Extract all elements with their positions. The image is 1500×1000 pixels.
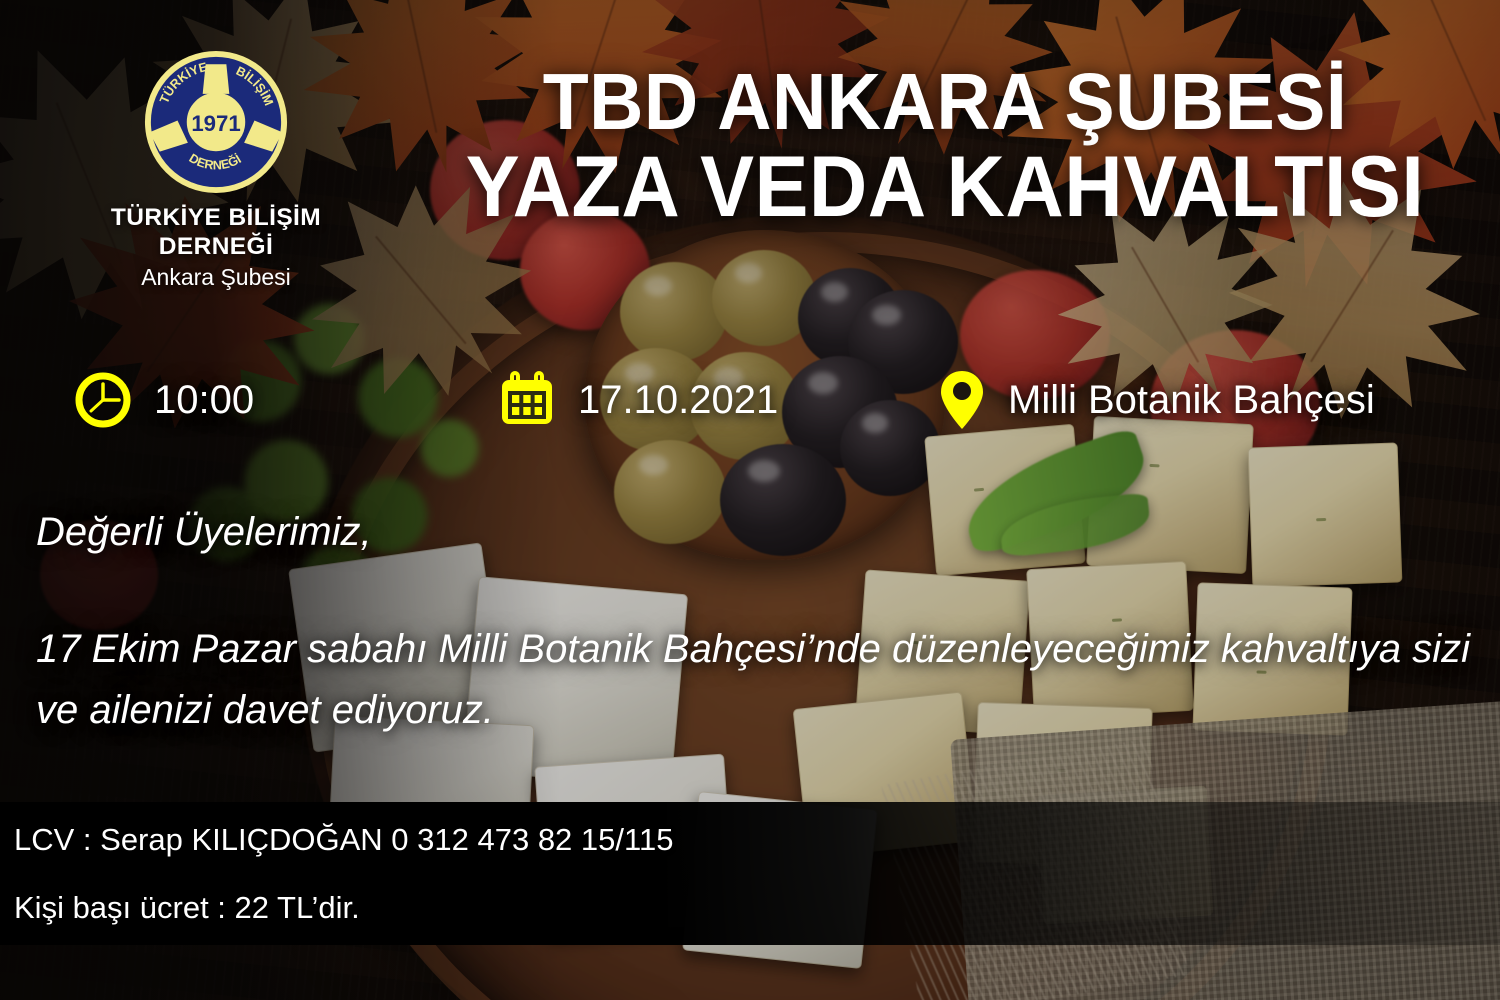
org-name: TÜRKİYE BİLİŞİM DERNEĞİ <box>98 204 334 262</box>
clock-icon <box>74 371 132 429</box>
svg-text:1971: 1971 <box>191 111 240 136</box>
poster-content: 1971 TÜRKİYE BİLİŞİM DERNEĞİ TÜRKİYE BİL… <box>0 0 1500 1000</box>
event-date: 17.10.2021 <box>498 362 778 438</box>
event-date-label: 17.10.2021 <box>578 378 778 423</box>
event-info-strip: 10:00 17.10.2021 <box>74 362 1454 438</box>
greeting-line: Değerli Üyelerimiz, <box>36 502 1486 563</box>
calendar-icon <box>498 371 556 429</box>
event-poster: 1971 TÜRKİYE BİLİŞİM DERNEĞİ TÜRKİYE BİL… <box>0 0 1500 1000</box>
poster-title: TBD ANKARA ŞUBESİ YAZA VEDA KAHVALTISI <box>433 62 1458 230</box>
org-branch: Ankara Şubesi <box>98 264 334 291</box>
footer-bar: LCV : Serap KILIÇDOĞAN 0 312 473 82 15/1… <box>0 802 1500 945</box>
price-line: Kişi başı ücret : 22 TL’dir. <box>14 890 360 926</box>
event-time-label: 10:00 <box>154 378 254 423</box>
invitation-body: Değerli Üyelerimiz, 17 Ekim Pazar sabahı… <box>36 502 1486 740</box>
title-line-1: TBD ANKARA ŞUBESİ <box>543 57 1348 146</box>
event-time: 10:00 <box>74 362 254 438</box>
event-location-label: Milli Botanik Bahçesi <box>1008 378 1375 423</box>
tbd-logo-icon: 1971 TÜRKİYE BİLİŞİM DERNEĞİ <box>142 48 290 196</box>
invitation-paragraph: 17 Ekim Pazar sabahı Milli Botanik Bahçe… <box>36 619 1486 741</box>
brand-block: 1971 TÜRKİYE BİLİŞİM DERNEĞİ TÜRKİYE BİL… <box>98 48 334 291</box>
rsvp-line: LCV : Serap KILIÇDOĞAN 0 312 473 82 15/1… <box>14 822 673 858</box>
event-location: Milli Botanik Bahçesi <box>938 362 1375 438</box>
title-line-2: YAZA VEDA KAHVALTISI <box>433 145 1458 230</box>
location-pin-icon <box>938 369 986 431</box>
